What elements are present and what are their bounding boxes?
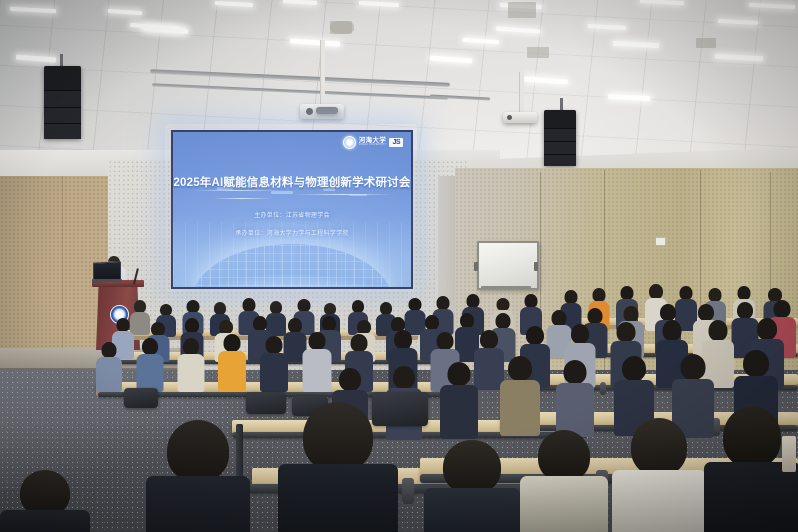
person-head (253, 316, 267, 331)
audience-member (260, 336, 288, 390)
university-name-block: 河海大学 HOHAI UNIVERSITY (359, 138, 387, 147)
projector-mount-pole-2 (519, 72, 524, 114)
screen-logo-group: 河海大学 HOHAI UNIVERSITY JS (343, 136, 403, 149)
screen-accent-line (213, 198, 271, 199)
lecture-hall-photo: 河海大学 HOHAI UNIVERSITY JS 2025年AI赋能信息材料与物… (0, 0, 798, 532)
person-body (500, 380, 540, 436)
person-head (142, 338, 158, 355)
person-head (185, 318, 199, 333)
line-array-speaker-left (44, 66, 81, 138)
person-head (663, 320, 682, 341)
person-body (218, 351, 246, 392)
person-head (436, 296, 449, 310)
person-head (587, 308, 602, 324)
speaker-segment (544, 141, 576, 154)
person-head (351, 334, 368, 352)
person-head (357, 320, 371, 334)
person-head (774, 300, 791, 318)
person-head (467, 294, 480, 308)
person-body (177, 354, 204, 392)
person-head (680, 286, 693, 300)
university-seal-icon (343, 136, 356, 149)
screen-accent-line (191, 190, 283, 191)
speaker-segment (544, 154, 576, 166)
ceiling-vent (696, 38, 716, 48)
person-body (424, 488, 520, 532)
person-head (448, 362, 471, 386)
person-body (278, 464, 398, 532)
speaker-segment (44, 107, 81, 123)
speaker-segment (544, 128, 576, 141)
person-head (242, 298, 255, 312)
audience-member-foreground (0, 470, 90, 532)
person-head (288, 318, 302, 333)
person-body (440, 385, 478, 439)
person-head (102, 342, 117, 358)
person-head (151, 322, 165, 336)
person-head (167, 420, 229, 482)
person-body (260, 353, 288, 392)
person-body (0, 510, 90, 532)
person-body (136, 354, 163, 392)
screen-subtitle-host: 主办单位：江苏省物理学会 (173, 210, 411, 219)
person-head (425, 315, 439, 330)
person-head (303, 402, 373, 472)
university-name-en: HOHAI UNIVERSITY (359, 144, 387, 147)
bench-post (600, 382, 606, 395)
backpack (372, 392, 428, 426)
person-head (660, 304, 676, 321)
person-head (709, 288, 722, 302)
person-head (737, 302, 753, 319)
person-head (757, 318, 777, 340)
speaker-segment (44, 90, 81, 107)
person-head (117, 318, 130, 332)
person-body (704, 462, 798, 532)
person-head (743, 350, 769, 377)
laptop-base (92, 279, 122, 282)
screen-subtitle-organizer: 承办单位：河海大学力学与工程科学学院 (173, 228, 411, 237)
projector-mount-pole (320, 40, 325, 106)
projector-lens-2 (507, 115, 512, 120)
person-body (556, 383, 594, 437)
person-head (616, 322, 635, 342)
ceiling-vent (508, 2, 536, 18)
audience-member-foreground (520, 430, 608, 532)
screen-accent-line (293, 194, 393, 195)
person-head (266, 336, 283, 354)
person-head (436, 332, 453, 350)
ceiling-vent (527, 47, 549, 58)
audience-member (96, 342, 122, 390)
whiteboard-clip (534, 262, 538, 271)
audience-member (440, 362, 478, 436)
person-head (393, 366, 415, 389)
person-body (146, 476, 250, 532)
audience-member (136, 338, 163, 390)
audience-member-foreground (146, 420, 250, 532)
projector-vent (316, 107, 338, 114)
person-head (738, 286, 751, 300)
person-head (649, 284, 663, 299)
speaker-segment (44, 123, 81, 139)
wall-seam (62, 176, 63, 356)
person-head (564, 360, 587, 384)
person-head (592, 288, 605, 302)
wall-socket (655, 237, 666, 246)
screen-title: 2025年AI赋能信息材料与物理创新学术研讨会 (173, 174, 411, 190)
audience-member (177, 338, 204, 390)
person-head (681, 354, 706, 380)
audience-member (218, 334, 246, 390)
ceiling-speaker-grille (330, 21, 354, 34)
person-head (394, 330, 412, 349)
audience-member (500, 356, 540, 434)
whiteboard-clip (474, 262, 478, 271)
audience-member (302, 332, 331, 390)
person-head (709, 320, 728, 341)
person-head (538, 430, 590, 482)
line-array-speaker-right (544, 110, 576, 165)
person-head (495, 313, 510, 329)
person-head (308, 332, 325, 350)
person-head (631, 418, 687, 476)
person-head (526, 326, 544, 345)
screen-chip-accent (271, 191, 293, 194)
person-head (480, 330, 498, 349)
person-head (322, 316, 336, 331)
person-head (525, 294, 538, 308)
person-head (723, 406, 781, 468)
audience-member-foreground (612, 418, 706, 532)
person-head (621, 286, 634, 300)
audience-member (556, 360, 594, 434)
projector-lens (306, 108, 313, 115)
person-head (339, 368, 361, 391)
bench-post (402, 478, 414, 504)
person-head (508, 356, 532, 381)
backpack (124, 388, 158, 408)
screen-chip-accent (349, 194, 367, 196)
society-badge: JS (389, 138, 403, 147)
person-head (443, 440, 501, 494)
person-head (698, 304, 714, 321)
person-head (224, 334, 241, 352)
person-head (183, 338, 199, 355)
person-body (520, 476, 608, 532)
person-head (564, 290, 577, 304)
person-head (622, 356, 646, 381)
whiteboard-tray (481, 286, 531, 289)
person-head (460, 313, 474, 328)
person-body (96, 357, 122, 392)
person-body (612, 470, 706, 532)
presentation-screen[interactable]: 河海大学 HOHAI UNIVERSITY JS 2025年AI赋能信息材料与物… (171, 130, 413, 289)
person-head (219, 320, 233, 334)
person-head (571, 324, 589, 344)
water-bottle (782, 436, 796, 472)
person-head (624, 306, 639, 322)
whiteboard[interactable] (477, 241, 539, 290)
person-body (302, 349, 331, 392)
audience-member-foreground (424, 440, 520, 532)
